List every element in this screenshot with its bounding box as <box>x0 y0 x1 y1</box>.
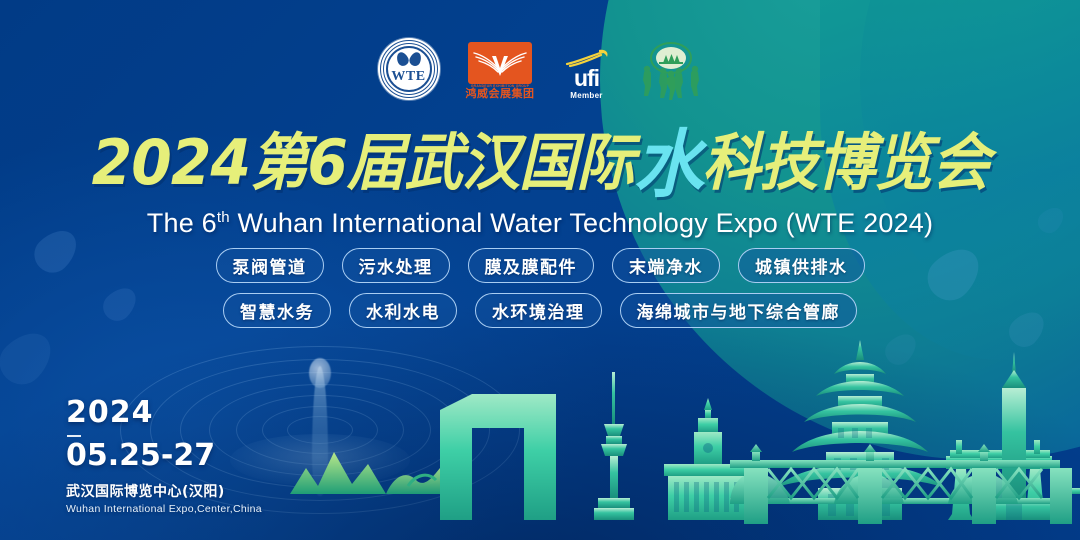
date-divider <box>67 435 81 437</box>
event-headline: 2024第6届武汉国际水科技博览会 The 6th Wuhan Internat… <box>0 128 1080 239</box>
category-pill[interactable]: 膜及膜配件 <box>468 248 595 283</box>
ufi-member-logo: ufi Member <box>561 48 613 100</box>
subtitle-ordinal: th <box>217 209 230 226</box>
venue-name-en: Wuhan International Expo,Center,China <box>66 503 262 515</box>
guishan-tv-tower <box>594 372 634 520</box>
event-year: 2024 <box>66 398 262 428</box>
ufi-member-label: Member <box>570 91 602 100</box>
wte-droplet-icon <box>397 52 421 66</box>
ufi-swoosh-icon <box>561 48 613 68</box>
headline-subtitle: The 6th Wuhan International Water Techno… <box>0 208 1080 239</box>
category-pill[interactable]: 污水处理 <box>342 248 450 283</box>
category-pill[interactable]: 智慧水务 <box>223 293 331 328</box>
date-venue-block: 2024 05.25-27 武汉国际博览中心(汉阳) Wuhan Interna… <box>66 398 262 515</box>
wte-logo-text: WTE <box>378 69 440 85</box>
category-pill[interactable]: 城镇供排水 <box>738 248 865 283</box>
headline-water-char: 水 <box>633 128 702 202</box>
category-pill-row-1: 泵阀管道 污水处理 膜及膜配件 末端净水 城镇供排水 <box>0 248 1080 283</box>
ufi-wordmark: ufi <box>574 68 599 90</box>
subtitle-pre: The 6 <box>147 208 217 238</box>
category-pill[interactable]: 泵阀管道 <box>216 248 324 283</box>
venue-name-cn: 武汉国际博览中心(汉阳) <box>66 481 262 501</box>
hongwei-cn-text: 鸿威会展集团 <box>466 88 535 100</box>
hongwei-exhibition-group-logo: GRANDEUR EXHIBITION GROUP 鸿威会展集团 <box>466 42 535 101</box>
category-pills: 泵阀管道 污水处理 膜及膜配件 末端净水 城镇供排水 智慧水务 水利水电 水环境… <box>0 248 1080 338</box>
category-pill[interactable]: 末端净水 <box>612 248 720 283</box>
sponsor-logo-row: WTE GRANDEUR EXHIBITION GROUP <box>0 38 1080 100</box>
category-pill[interactable]: 海绵城市与地下综合管廊 <box>620 293 858 328</box>
headline-main-after: 科技博览会 <box>702 126 989 199</box>
wte-logo: WTE <box>378 38 440 100</box>
headline-main-before: 2024第6届武汉国际 <box>91 126 633 199</box>
category-pill-row-2: 智慧水务 水利水电 水环境治理 海绵城市与地下综合管廊 <box>0 293 1080 328</box>
expo-banner: WTE GRANDEUR EXHIBITION GROUP <box>0 0 1080 540</box>
category-pill[interactable]: 水利水电 <box>349 293 457 328</box>
headline-main: 2024第6届武汉国际水科技博览会 <box>91 128 988 202</box>
wuhan-arch-building <box>440 394 556 520</box>
event-date: 05.25-27 <box>66 441 262 471</box>
category-pill[interactable]: 水环境治理 <box>475 293 602 328</box>
hongwei-mark <box>468 42 532 84</box>
green-association-logo <box>639 38 703 100</box>
w-wings-icon <box>468 42 532 84</box>
subtitle-post: Wuhan International Water Technology Exp… <box>230 208 933 238</box>
yangtze-river-bridge-detail <box>720 412 1080 532</box>
